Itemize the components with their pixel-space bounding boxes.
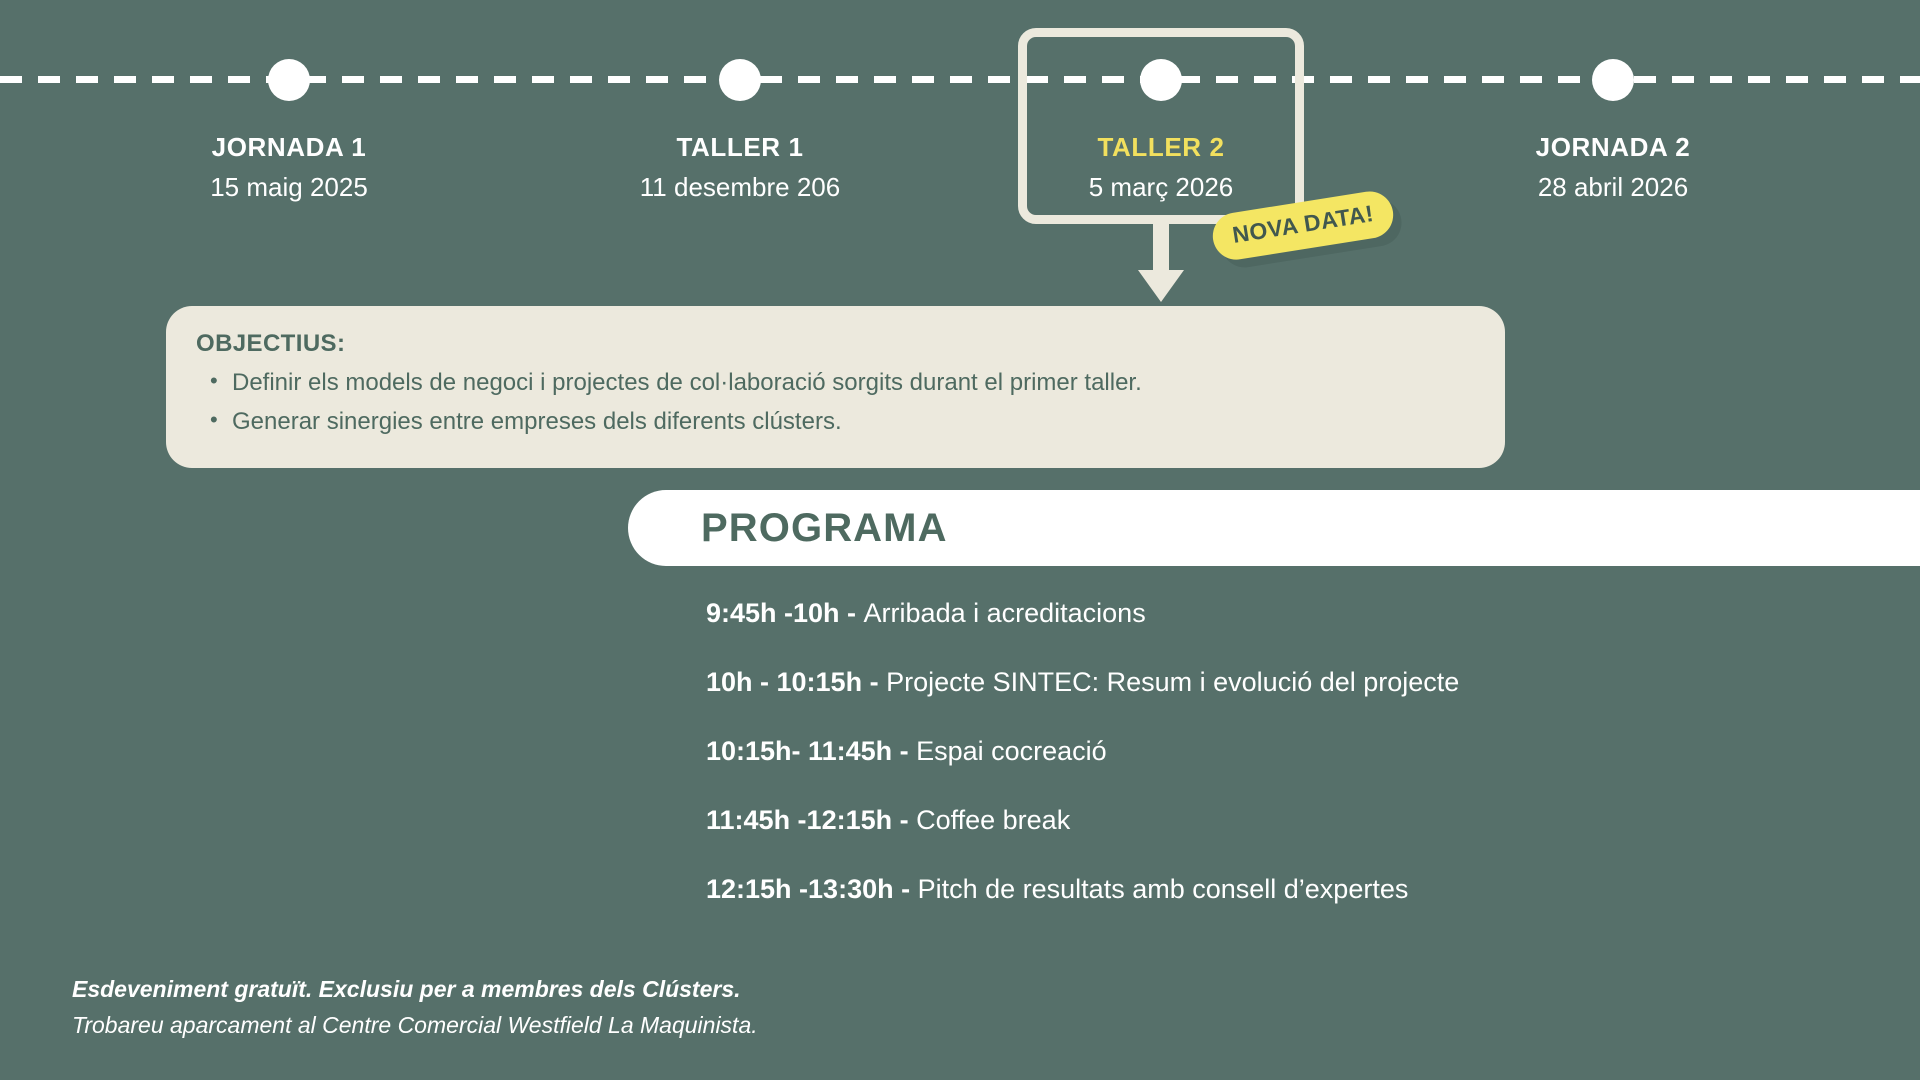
page-title: PROGRAMA bbox=[701, 506, 948, 551]
schedule-description: Coffee break bbox=[916, 805, 1070, 835]
schedule-description: Arribada i acreditacions bbox=[864, 598, 1146, 628]
objectius-card: OBJECTIUS: Definir els models de negoci … bbox=[166, 306, 1505, 468]
footer-primary-note: Esdeveniment gratuït. Exclusiu per a mem… bbox=[72, 976, 758, 1003]
schedule-row: 12:15h -13:30h - Pitch de resultats amb … bbox=[706, 874, 1886, 905]
list-item: Generar sinergies entre empreses dels di… bbox=[232, 403, 1475, 442]
arrow-down-icon bbox=[1136, 224, 1186, 304]
timeline-node-label: TALLER 2 bbox=[1011, 132, 1311, 163]
timeline-node-date: 15 maig 2025 bbox=[139, 172, 439, 203]
timeline-node-label: JORNADA 2 bbox=[1463, 132, 1763, 163]
timeline-node-label: TALLER 1 bbox=[590, 132, 890, 163]
timeline-node-date: 5 març 2026 bbox=[1011, 172, 1311, 203]
poster-canvas: JORNADA 1 15 maig 2025 TALLER 1 11 desem… bbox=[0, 0, 1920, 1080]
programa-header-bar: PROGRAMA bbox=[628, 490, 1920, 566]
schedule-time: 11:45h -12:15h - bbox=[706, 805, 916, 835]
timeline-dot-icon bbox=[1140, 59, 1182, 101]
objectius-title: OBJECTIUS: bbox=[196, 330, 1475, 358]
schedule-time: 12:15h -13:30h - bbox=[706, 874, 918, 904]
objectius-list: Definir els models de negoci i projectes… bbox=[196, 364, 1475, 442]
schedule-row: 11:45h -12:15h - Coffee break bbox=[706, 805, 1886, 836]
schedule-time: 10:15h- 11:45h - bbox=[706, 736, 916, 766]
timeline-dot-icon bbox=[1592, 59, 1634, 101]
timeline-dot-icon bbox=[719, 59, 761, 101]
timeline-dot-icon bbox=[268, 59, 310, 101]
footer-secondary-note: Trobareu aparcament al Centre Comercial … bbox=[72, 1012, 758, 1039]
schedule-time: 9:45h -10h - bbox=[706, 598, 864, 628]
schedule-row: 10:15h- 11:45h - Espai cocreació bbox=[706, 736, 1886, 767]
timeline-node-label: JORNADA 1 bbox=[139, 132, 439, 163]
timeline-node-date: 11 desembre 206 bbox=[590, 172, 890, 203]
schedule-description: Projecte SINTEC: Resum i evolució del pr… bbox=[886, 667, 1459, 697]
programa-schedule: 9:45h -10h - Arribada i acreditacions 10… bbox=[706, 598, 1886, 943]
schedule-row: 9:45h -10h - Arribada i acreditacions bbox=[706, 598, 1886, 629]
schedule-description: Pitch de resultats amb consell d’experte… bbox=[918, 874, 1409, 904]
timeline-node-date: 28 abril 2026 bbox=[1463, 172, 1763, 203]
schedule-row: 10h - 10:15h - Projecte SINTEC: Resum i … bbox=[706, 667, 1886, 698]
list-item: Definir els models de negoci i projectes… bbox=[232, 364, 1475, 403]
schedule-description: Espai cocreació bbox=[916, 736, 1107, 766]
footer-notes: Esdeveniment gratuït. Exclusiu per a mem… bbox=[72, 976, 758, 1039]
schedule-time: 10h - 10:15h - bbox=[706, 667, 886, 697]
